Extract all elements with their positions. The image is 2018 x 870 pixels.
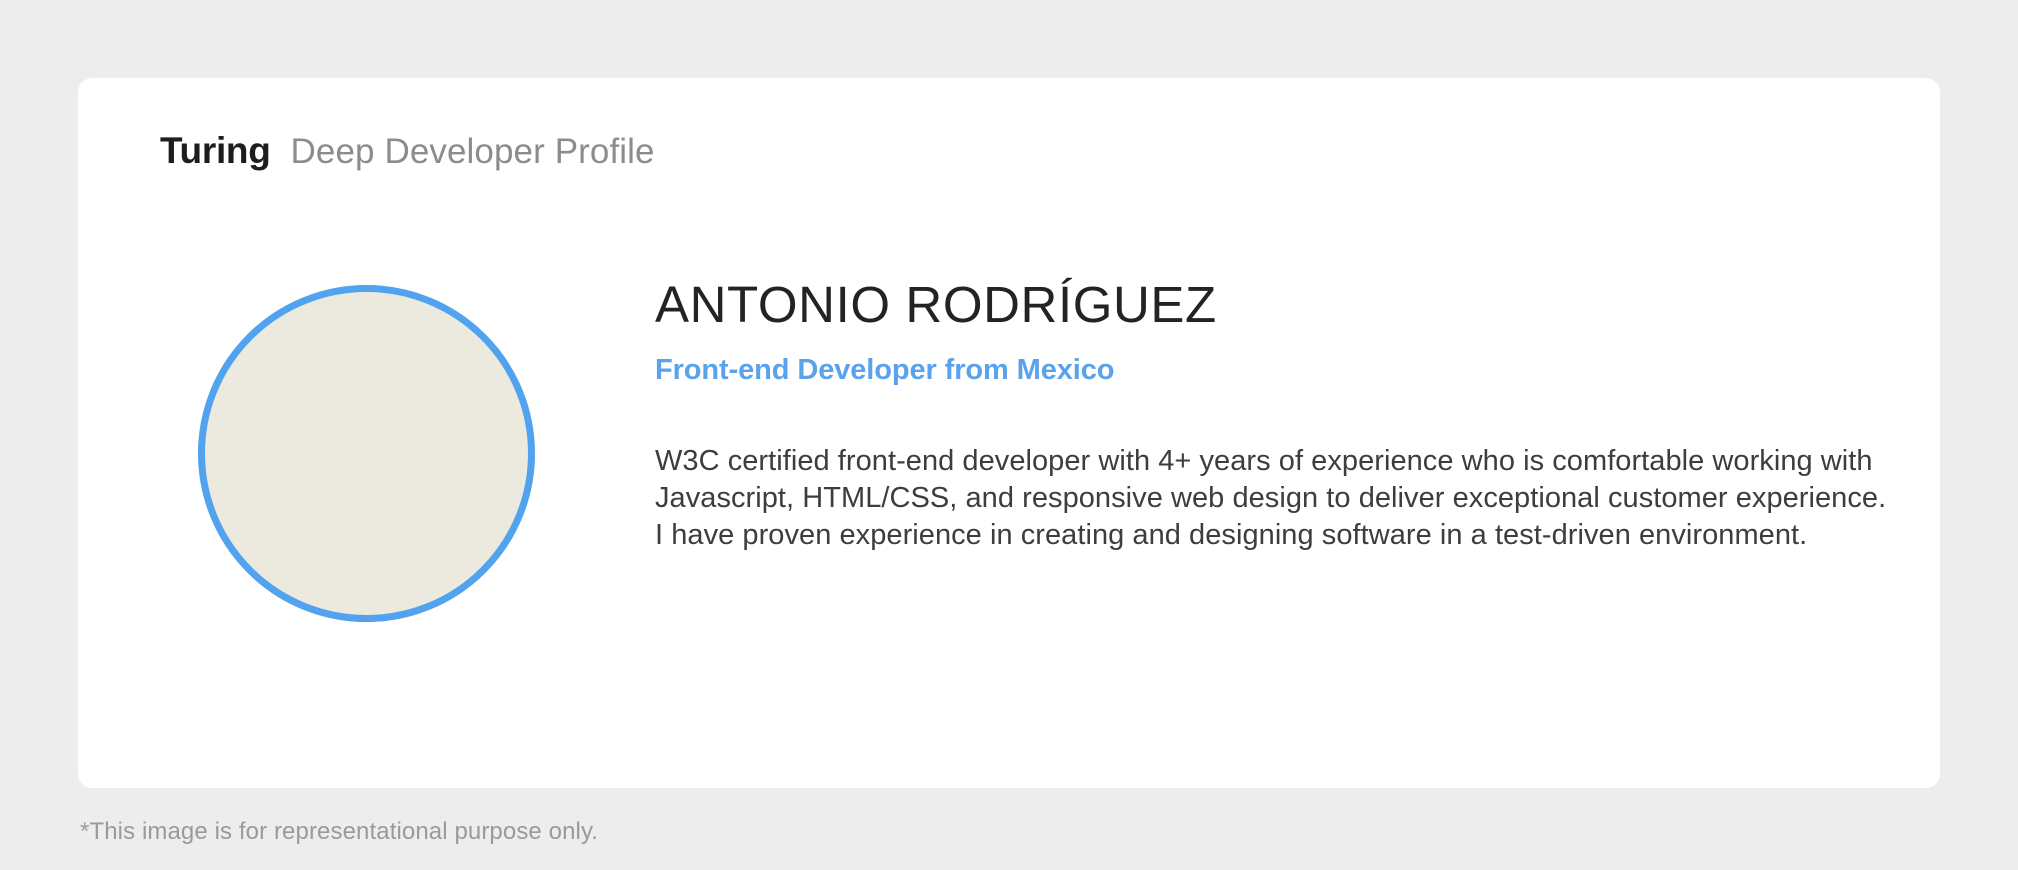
developer-details: ANTONIO RODRÍGUEZ Front-end Developer fr…: [655, 278, 1895, 554]
profile-page: Turing Deep Developer Profile: [0, 0, 2018, 870]
footnote-disclaimer: *This image is for representational purp…: [80, 818, 598, 846]
developer-profile-card: Turing Deep Developer Profile: [78, 78, 1940, 788]
developer-name: ANTONIO RODRÍGUEZ: [655, 278, 1895, 332]
developer-summary: W3C certified front-end developer with 4…: [655, 443, 1895, 554]
developer-role: Front-end Developer from Mexico: [655, 354, 1895, 387]
card-header: Turing Deep Developer Profile: [160, 130, 655, 172]
avatar: [198, 285, 535, 622]
avatar-ring: [198, 285, 535, 622]
brand-name: Turing: [160, 130, 271, 172]
card-subtitle: Deep Developer Profile: [291, 132, 655, 172]
